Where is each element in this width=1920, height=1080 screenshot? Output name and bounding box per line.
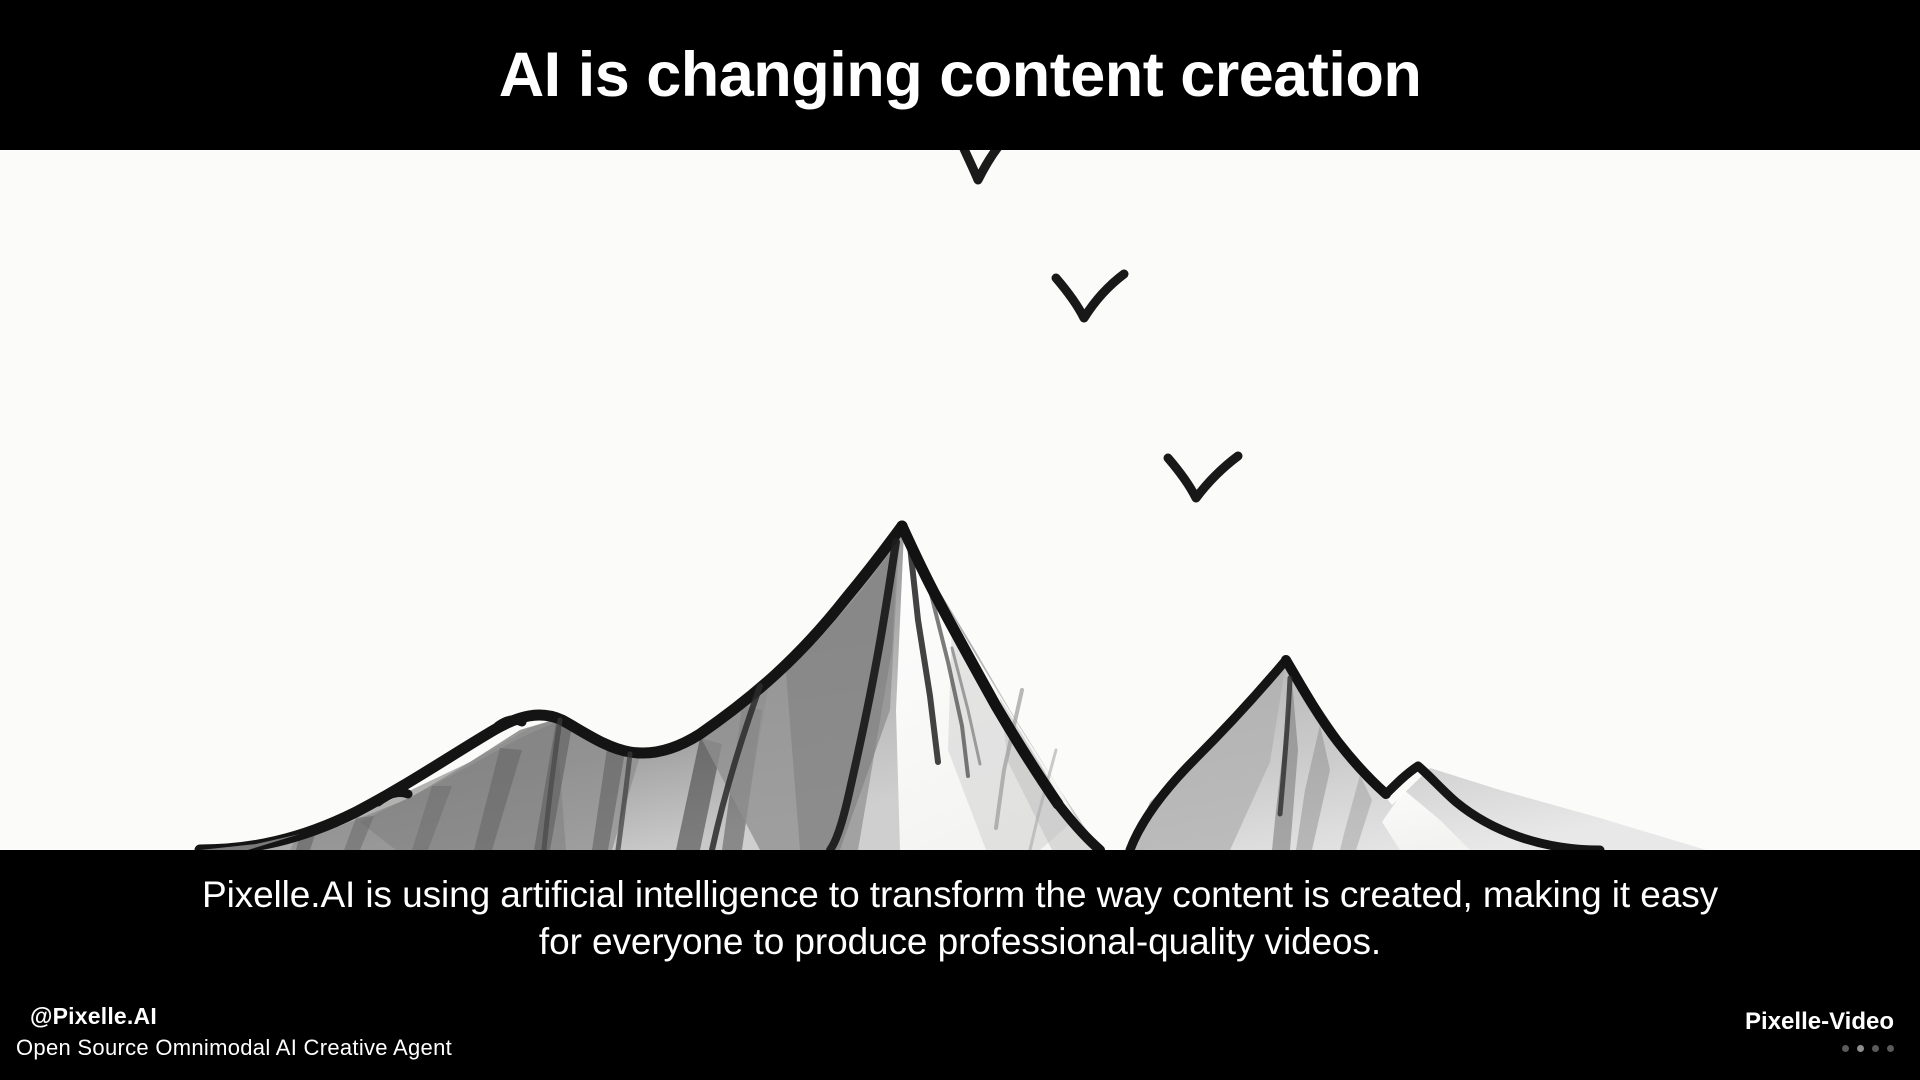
progress-dot[interactable] bbox=[1872, 1045, 1879, 1052]
caption-line-1: Pixelle.AI is using artificial intellige… bbox=[90, 872, 1830, 919]
progress-dots[interactable] bbox=[1745, 1045, 1894, 1052]
brand-label: Pixelle-Video bbox=[1745, 1008, 1894, 1037]
slide-canvas: AI is changing content creation bbox=[0, 0, 1920, 1080]
page-title: AI is changing content creation bbox=[499, 44, 1422, 107]
media-area bbox=[0, 150, 1920, 850]
account-tagline: Open Source Omnimodal AI Creative Agent bbox=[16, 1034, 452, 1063]
bottom-panel: Pixelle.AI is using artificial intellige… bbox=[0, 850, 1920, 1080]
caption-line-2: for everyone to produce professional-qua… bbox=[90, 919, 1830, 966]
footer-left: @Pixelle.AI Open Source Omnimodal AI Cre… bbox=[0, 1002, 452, 1062]
progress-dot[interactable] bbox=[1842, 1045, 1849, 1052]
progress-dot[interactable] bbox=[1887, 1045, 1894, 1052]
mountain-illustration bbox=[0, 150, 1920, 850]
account-handle[interactable]: @Pixelle.AI bbox=[30, 1002, 452, 1031]
footer-right: Pixelle-Video bbox=[1745, 1008, 1894, 1052]
caption-text: Pixelle.AI is using artificial intellige… bbox=[90, 872, 1830, 965]
title-bar: AI is changing content creation bbox=[0, 0, 1920, 150]
progress-dot[interactable] bbox=[1857, 1045, 1864, 1052]
